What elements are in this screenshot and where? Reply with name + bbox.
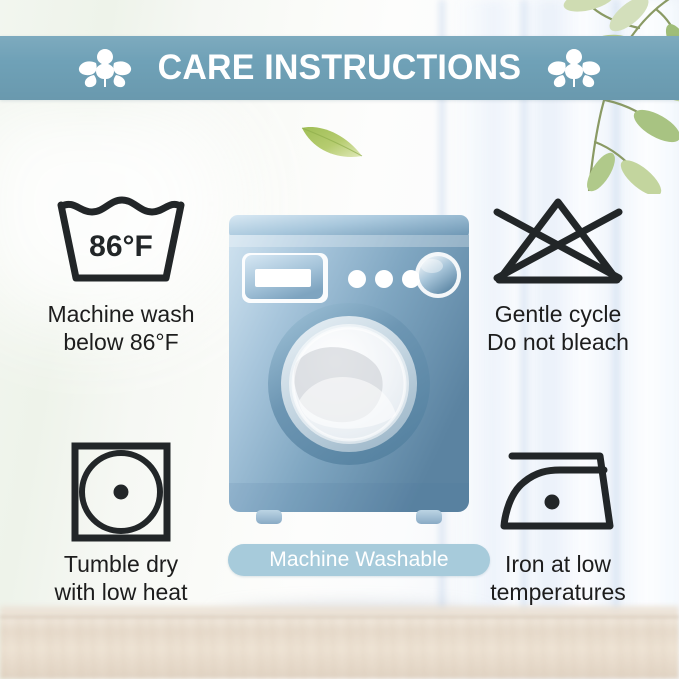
- care-symbol-tumble-dry: Tumble dry with low heat: [16, 440, 226, 606]
- washing-machine-illustration: [224, 213, 474, 538]
- care-symbol-machine-wash: 86°F Machine wash below 86°F: [16, 190, 226, 356]
- page-title: CARE INSTRUCTIONS: [158, 48, 522, 88]
- care-symbol-no-bleach: Gentle cycle Do not bleach: [453, 190, 663, 356]
- machine-foot-right: [416, 510, 442, 524]
- wash-tub-icon: 86°F: [16, 190, 226, 294]
- care-instructions-poster: CARE INSTRUCTIONS 86°F Machi: [0, 0, 679, 679]
- detergent-drawer: [242, 253, 328, 303]
- dial-knob: [415, 252, 461, 298]
- washer-door: [268, 303, 430, 465]
- background-table-edge: [0, 615, 679, 619]
- caption-machine-wash: Machine wash below 86°F: [16, 300, 226, 356]
- tumble-dry-square-icon: [16, 440, 226, 544]
- control-dot-1: [348, 270, 366, 288]
- wash-temperature-label: 86°F: [89, 230, 153, 263]
- fleur-de-lis-icon-right: [547, 45, 601, 91]
- crossed-triangle-icon: [453, 190, 663, 294]
- header-banner: CARE INSTRUCTIONS: [0, 36, 679, 100]
- control-dot-2: [375, 270, 393, 288]
- caption-tumble-dry: Tumble dry with low heat: [16, 550, 226, 606]
- iron-icon: [453, 440, 663, 544]
- machine-washable-badge: Machine Washable: [228, 544, 490, 576]
- machine-foot-left: [256, 510, 282, 524]
- caption-no-bleach: Gentle cycle Do not bleach: [453, 300, 663, 356]
- background-table-grain: [0, 617, 679, 679]
- fleur-de-lis-icon-left: [78, 45, 132, 91]
- care-symbol-iron: Iron at low temperatures: [453, 440, 663, 606]
